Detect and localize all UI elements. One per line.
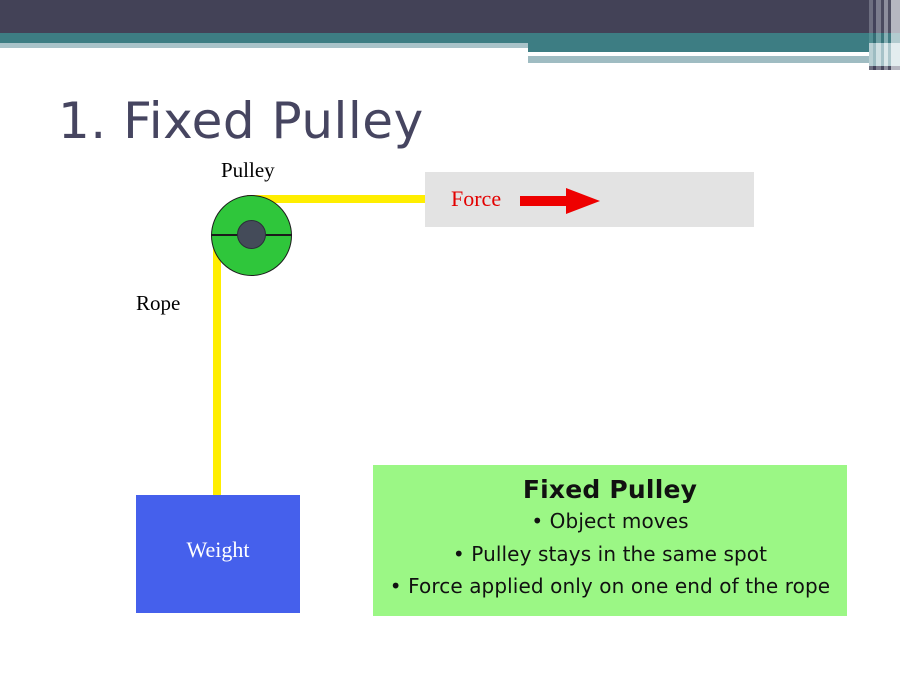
rope-vertical-segment: [213, 236, 221, 500]
info-panel-heading: Fixed Pulley: [373, 474, 847, 505]
fixed-pulley-info-panel: Fixed Pulley • Object moves • Pulley sta…: [373, 465, 847, 616]
info-panel-bullet: • Force applied only on one end of the r…: [373, 570, 847, 603]
rope-label: Rope: [136, 291, 180, 316]
pulley-label: Pulley: [221, 158, 275, 183]
info-panel-bullet: • Pulley stays in the same spot: [373, 538, 847, 571]
arrow-right-icon: [520, 188, 600, 214]
force-callout-box: Force: [425, 172, 754, 227]
weight-block: Weight: [136, 495, 300, 613]
pulley-hub-icon: [237, 220, 266, 249]
weight-label: Weight: [136, 537, 300, 563]
force-label: Force: [451, 186, 501, 212]
info-panel-bullet: • Object moves: [373, 505, 847, 538]
